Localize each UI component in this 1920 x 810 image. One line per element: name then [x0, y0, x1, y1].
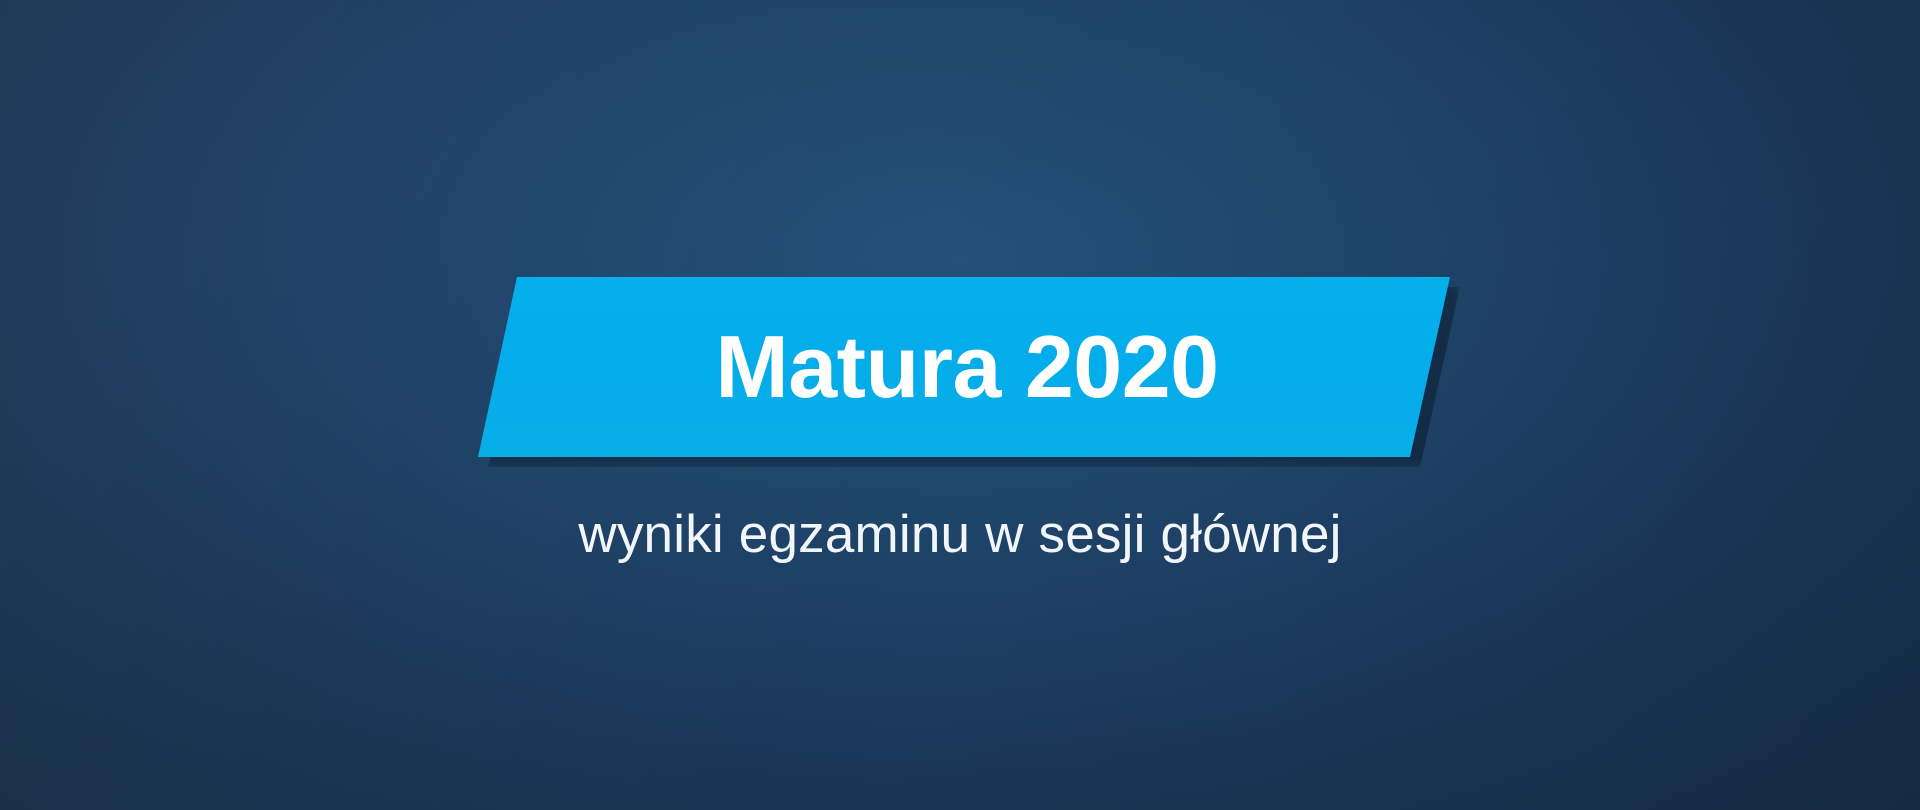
slide-subtitle: wyniki egzaminu w sesji głównej: [0, 505, 1920, 566]
slide-title: Matura 2020: [470, 277, 1460, 457]
title-banner: Matura 2020: [470, 272, 1460, 467]
title-slide: Matura 2020 wyniki egzaminu w sesji głów…: [0, 0, 1920, 810]
slide-content: Matura 2020 wyniki egzaminu w sesji głów…: [0, 0, 1920, 810]
